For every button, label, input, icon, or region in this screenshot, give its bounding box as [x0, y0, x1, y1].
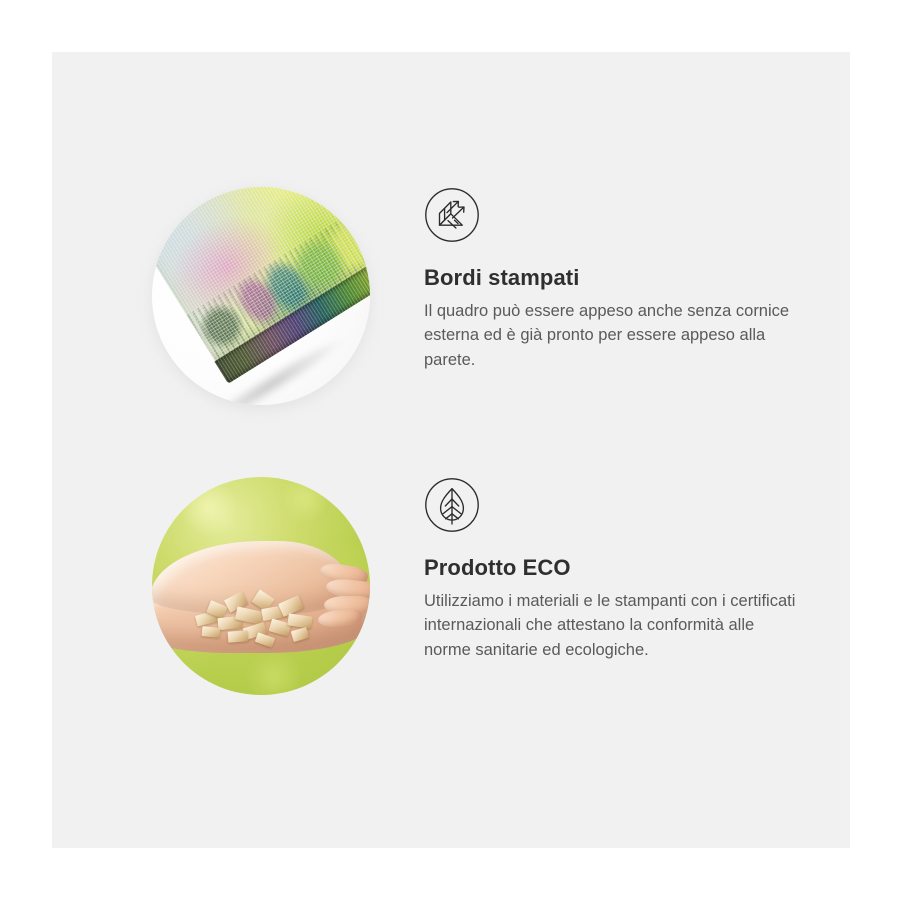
product-feature-infographic: Bordi stampati Il quadro può essere appe…: [0, 0, 900, 900]
feature-description: Utilizziamo i materiali e le stampanti c…: [424, 589, 796, 661]
eco-photo-disc: [152, 477, 370, 695]
leaf-icon: [424, 477, 480, 533]
cupped-hands: [152, 539, 370, 659]
feature-title: Prodotto ECO: [424, 555, 804, 581]
feature-printed-edges: Bordi stampati Il quadro può essere appe…: [52, 187, 850, 452]
canvas-corner-photo: [152, 187, 370, 405]
wood-chips-hands-photo: [152, 477, 370, 695]
wrapped-edges-icon: [424, 187, 480, 243]
canvas-photo-disc: [152, 187, 370, 405]
content-panel: Bordi stampati Il quadro può essere appe…: [52, 52, 850, 848]
feature-description: Il quadro può essere appeso anche senza …: [424, 299, 796, 371]
wood-chips-pile: [192, 587, 316, 653]
feature-title: Bordi stampati: [424, 265, 804, 291]
feature-text-printed-edges: Bordi stampati Il quadro può essere appe…: [424, 187, 804, 372]
fingers: [314, 565, 370, 627]
feature-eco-product: Prodotto ECO Utilizziamo i materiali e l…: [52, 477, 850, 742]
feature-text-eco-product: Prodotto ECO Utilizziamo i materiali e l…: [424, 477, 804, 662]
